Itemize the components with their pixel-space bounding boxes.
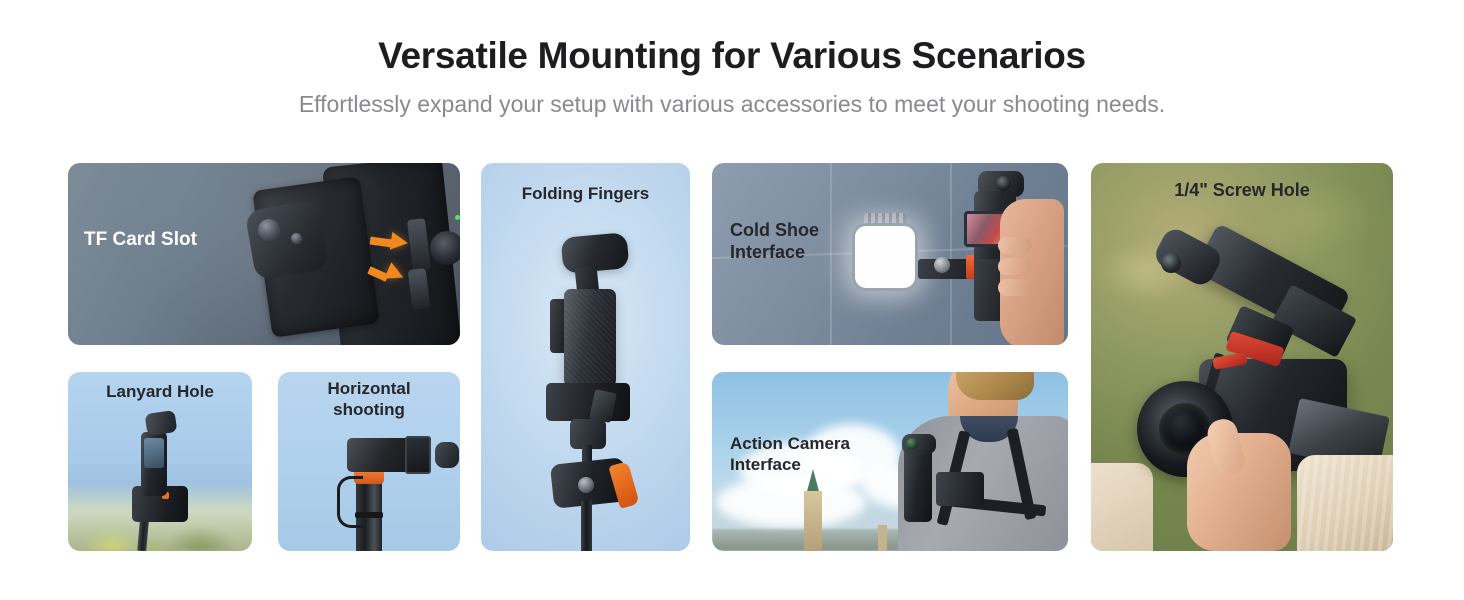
gimbal-head-shape (145, 410, 178, 436)
cold-shoe-knob-shape (934, 257, 950, 273)
camera-lens-shape (1161, 253, 1181, 273)
clamp-screw-shape (578, 477, 594, 493)
finger-shape-1 (998, 237, 1032, 254)
thumbscrew-knob-shape (258, 219, 280, 241)
distant-tower-shape (878, 525, 887, 551)
feature-card-cold-shoe-interface[interactable]: Cold Shoe Interface (712, 163, 1068, 345)
card-label-cold-shoe-interface: Cold Shoe Interface (730, 220, 819, 264)
camera-lens-shape (435, 442, 459, 468)
gimbal-body-shape (904, 448, 932, 522)
feature-card-action-camera-interface[interactable]: Action Camera Interface (712, 372, 1068, 551)
finger-shape-3 (998, 279, 1032, 296)
sleeve-shape-right (1297, 455, 1393, 551)
feature-card-lanyard-hole[interactable]: Lanyard Hole (68, 372, 252, 551)
card-label-screw-hole: 1/4" Screw Hole (1091, 180, 1393, 202)
orange-arrow-icon-upper (390, 232, 409, 252)
card-label-tf-card-slot: TF Card Slot (84, 228, 197, 251)
lanyard-strap-shape (337, 476, 363, 528)
feature-card-grid: TF Card Slot Lanyard Hole Horizontal sho… (0, 0, 1464, 600)
finger-shape-2 (998, 258, 1032, 275)
card-label-lanyard-hole: Lanyard Hole (68, 382, 252, 403)
gimbal-body-shape (564, 289, 616, 387)
camera-screen-shape (144, 438, 164, 468)
camera-lens-shape (996, 176, 1011, 191)
folding-fingers-cage-shape (546, 383, 630, 421)
status-led-indicator (455, 215, 460, 220)
card-label-folding-fingers: Folding Fingers (481, 184, 690, 205)
camera-lens-shape (430, 231, 460, 265)
camera-lens-shape (906, 438, 918, 450)
church-tower-shape (804, 491, 822, 551)
cloud-shape-3 (716, 476, 866, 528)
support-rod-shape (581, 501, 592, 551)
feature-card-screw-hole[interactable]: 1/4" Screw Hole (1091, 163, 1393, 551)
card-label-action-camera-interface: Action Camera Interface (730, 434, 850, 475)
tf-card-slot-product-photo (216, 163, 460, 345)
card-label-horizontal-shooting: Horizontal shooting (278, 379, 460, 420)
led-video-light-shape (852, 223, 918, 291)
camera-screen-shape (405, 436, 431, 474)
feature-card-folding-fingers[interactable]: Folding Fingers (481, 163, 690, 551)
feature-card-horizontal-shooting[interactable]: Horizontal shooting (278, 372, 460, 551)
mount-plate-shape (244, 199, 329, 281)
wall-line-vertical-2 (950, 163, 952, 345)
camera-lens-shape (600, 243, 622, 265)
small-screw-shape (291, 233, 302, 244)
person-hair-shape (956, 372, 1034, 400)
chest-mount-plate-shape (936, 472, 984, 506)
feature-card-tf-card-slot[interactable]: TF Card Slot (68, 163, 460, 345)
